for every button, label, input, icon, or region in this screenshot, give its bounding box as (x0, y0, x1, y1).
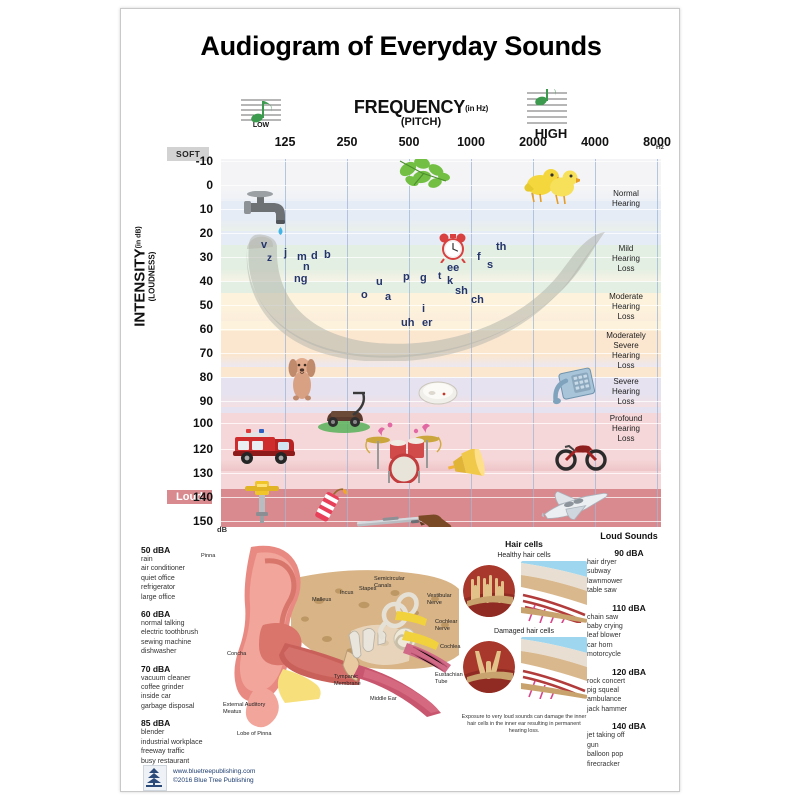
intensity-tick-0: 0 (179, 178, 213, 192)
faucet-icon (243, 191, 301, 239)
loud-sound-level: 90 dBA (587, 548, 671, 558)
phoneme-v: v (261, 239, 267, 251)
ear-label-semicircular: SemicircularCanals (374, 576, 405, 589)
phoneme-g: g (420, 272, 427, 284)
speech-banana-shape (239, 231, 609, 361)
hearing-level-line: Loss (583, 397, 669, 407)
hearing-level-line: Hearing (583, 387, 669, 397)
phoneme-sh: sh (455, 285, 468, 297)
ear-label-cochlear: CochlearNerve (435, 619, 457, 632)
hair-cells-panel: Hair cells Healthy hair cells (459, 539, 589, 754)
footer-website[interactable]: www.bluetreepublishing.com (173, 767, 255, 776)
loud-sound-item: baby crying (587, 622, 671, 631)
loud-sound-item: leaf blower (587, 631, 671, 640)
ear-label-vestibular: VestibularNerve (427, 593, 452, 606)
ear-label-line: Nerve (435, 626, 457, 633)
hearing-level-1: MildHearingLoss (583, 244, 669, 274)
hearing-level-line: Normal (583, 189, 669, 199)
ear-label-line: Nerve (427, 600, 452, 607)
phoneme-a: a (385, 291, 391, 303)
frequency-tick-500: 500 (386, 135, 432, 149)
intensity-tick-60: 60 (179, 322, 213, 336)
phoneme-i: i (422, 303, 425, 315)
ear-label-line: Tympanic (334, 674, 361, 681)
healthy-hair-cells-closeup (463, 565, 515, 617)
phoneme-k: k (447, 275, 453, 287)
ear-label-line: Middle Ear (370, 696, 397, 703)
frequency-tick-125: 125 (262, 135, 308, 149)
ear-label-malleus: Malleus (312, 597, 331, 604)
intensity-tick-50: 50 (179, 298, 213, 312)
frequency-title-unit: (in Hz) (465, 104, 488, 113)
loud-sound-item: firecracker (587, 760, 671, 769)
jackhammer-icon (243, 479, 281, 523)
phoneme-ng: ng (294, 273, 307, 285)
ear-anatomy-diagram: PinnaConchaExternal AuditoryMeatusLobe o… (199, 539, 469, 754)
hearing-level-line: Hearing (583, 254, 669, 264)
phoneme-p: p (403, 271, 410, 283)
intensity-tick-90: 90 (179, 394, 213, 408)
music-note-high-icon (525, 89, 569, 125)
loud-sound-item: hair dryer (587, 558, 671, 567)
hearing-level-2: ModerateHearingLoss (583, 292, 669, 322)
intensity-tick-20: 20 (179, 226, 213, 240)
frequency-low-label: LOW (239, 122, 283, 129)
hearing-level-line: Hearing (583, 424, 669, 434)
firecracker-icon (309, 483, 347, 527)
ear-label-cochlea: Cochlea (440, 644, 461, 651)
ear-label-line: Cochlear (435, 619, 457, 626)
loud-sound-item: subway (587, 567, 671, 576)
birds-icon (520, 165, 580, 207)
hearing-level-line: Loss (583, 361, 669, 371)
healthy-hair-cells-context (521, 561, 587, 623)
smoke-alarm-icon (418, 381, 458, 405)
healthy-hair-cells-label: Healthy hair cells (459, 552, 589, 559)
phoneme-t: t (438, 271, 441, 282)
music-note-low-icon (239, 97, 283, 125)
ear-label-external-auditory: External AuditoryMeatus (223, 702, 265, 715)
footer: www.bluetreepublishing.com ©2016 Blue Tr… (143, 765, 363, 791)
damaged-hair-cells-context (521, 637, 587, 699)
ear-label-incus: Incus (340, 590, 353, 597)
hearing-level-line: Loss (583, 264, 669, 274)
ear-label-line: Cochlea (440, 644, 461, 651)
intensity-tick-130: 130 (179, 466, 213, 480)
hearing-level-0: NormalHearing (583, 189, 669, 209)
drum-set-icon (360, 421, 446, 483)
frequency-tick-4000: 4000 (572, 135, 618, 149)
intensity-tick-150: 150 (179, 514, 213, 528)
phoneme-ee: ee (447, 262, 459, 274)
ear-label-line: Malleus (312, 597, 331, 604)
megaphone-icon (448, 449, 490, 479)
loud-sound-item: chain saw (587, 613, 671, 622)
ear-label-line: Canals (374, 583, 405, 590)
loud-sound-group-1: 110 dBAchain sawbaby cryingleaf blowerca… (587, 603, 671, 660)
hearing-level-line: Profound (583, 414, 669, 424)
loud-sound-item: pig squeal (587, 686, 671, 695)
hearing-level-5: ProfoundHearingLoss (583, 414, 669, 444)
ear-label-line: Membrane (334, 681, 361, 688)
loud-sound-level: 120 dBA (587, 667, 671, 677)
ear-label-line: Lobe of Pinna (237, 731, 272, 738)
loud-sounds-title: Loud Sounds (587, 531, 671, 541)
phoneme-o: o (361, 289, 368, 301)
intensity-title-text: INTENSITY (132, 248, 149, 326)
frequency-axis-subtitle: (PITCH) (311, 116, 531, 128)
ear-label-concha: Concha (227, 651, 246, 658)
footer-text: www.bluetreepublishing.com ©2016 Blue Tr… (173, 767, 255, 785)
loud-sound-item: balloon pop (587, 750, 671, 759)
loud-sound-item: ambulance (587, 695, 671, 704)
hearing-level-4: SevereHearingLoss (583, 377, 669, 407)
frequency-title-text: FREQUENCY (354, 97, 465, 117)
phoneme-b: b (324, 249, 331, 261)
phoneme-d: d (311, 250, 318, 262)
phoneme-f: f (477, 251, 481, 263)
hearing-level-line: Loss (583, 312, 669, 322)
intensity-tick-10: 10 (179, 202, 213, 216)
phoneme-ch: ch (471, 294, 484, 306)
loud-sound-item: jet taking off (587, 731, 671, 740)
intensity-tick-80: 80 (179, 370, 213, 384)
loud-sound-item: lawnmower (587, 577, 671, 586)
frequency-tick-250: 250 (324, 135, 370, 149)
intensity-tick-100: 100 (179, 416, 213, 430)
ear-label-tympanic: TympanicMembrane (334, 674, 361, 687)
leaves-icon (392, 159, 454, 197)
shotgun-icon (353, 511, 457, 527)
phoneme-j: j (284, 247, 287, 259)
hearing-level-line: Loss (583, 434, 669, 444)
loud-sound-level: 110 dBA (587, 603, 671, 613)
hearing-level-line: Severe (583, 377, 669, 387)
hearing-level-line: Moderate (583, 292, 669, 302)
phoneme-s: s (487, 259, 493, 271)
frequency-tick-1000: 1000 (448, 135, 494, 149)
hearing-level-line: Moderately (583, 331, 669, 341)
ear-label-pinna: Pinna (201, 553, 215, 560)
intensity-tick-70: 70 (179, 346, 213, 360)
ear-label-middle-ear: Middle Ear (370, 696, 397, 703)
phoneme-er: er (422, 317, 432, 329)
loud-sound-item: rock concert (587, 677, 671, 686)
frequency-tick-2000: 2000 (510, 135, 556, 149)
intensity-title-unit: (in dB) (136, 226, 143, 248)
intensity-axis-subtitle: (LOUDNESS) (148, 212, 157, 342)
frequency-tick-8000: 8000 (634, 135, 680, 149)
hair-cells-title: Hair cells (459, 539, 589, 549)
intensity-tick-40: 40 (179, 274, 213, 288)
loud-sound-item: car horn (587, 641, 671, 650)
phoneme-z: z (267, 253, 272, 264)
ear-label-line: Concha (227, 651, 246, 658)
page-title: Audiogram of Everyday Sounds (121, 31, 680, 62)
hearing-level-line: Hearing (583, 302, 669, 312)
intensity-tick-140: 140 (179, 490, 213, 504)
phoneme-uh: uh (401, 317, 414, 329)
ear-label-line: Vestibular (427, 593, 452, 600)
ear-label-line: Pinna (201, 553, 215, 560)
loud-sound-item: table saw (587, 586, 671, 595)
loud-sounds-list: Loud Sounds 90 dBAhair dryersubwaylawnmo… (587, 531, 671, 769)
damaged-hair-cells-closeup (463, 641, 515, 693)
fire-truck-icon (231, 425, 297, 467)
damaged-hair-cells-label: Damaged hair cells (459, 628, 589, 635)
poster-container: Audiogram of Everyday Sounds LOW HIGH FR… (120, 8, 680, 792)
hearing-level-line: Mild (583, 244, 669, 254)
hearing-level-line: Severe (583, 341, 669, 351)
ear-label-line: Incus (340, 590, 353, 597)
loud-sound-group-2: 120 dBArock concertpig squealambulanceja… (587, 667, 671, 715)
hearing-level-line: Hearing (583, 351, 669, 361)
hearing-level-line: Hearing (583, 199, 669, 209)
alarm-clock-icon (438, 231, 468, 263)
intensity-tick-120: 120 (179, 442, 213, 456)
phoneme-u: u (376, 276, 383, 288)
intensity-axis-title: INTENSITY(in dB) (LOUDNESS) (132, 212, 157, 342)
ear-label-line: Meatus (223, 709, 265, 716)
intensity-tick-30: 30 (179, 250, 213, 264)
loud-sound-item: jack hammer (587, 705, 671, 714)
loud-sound-item: motorcycle (587, 650, 671, 659)
phoneme-th: th (496, 241, 506, 253)
ear-label-lobe-of-pinna: Lobe of Pinna (237, 731, 272, 738)
airplane-icon (539, 485, 611, 523)
footer-copyright: ©2016 Blue Tree Publishing (173, 776, 255, 785)
loud-sound-item: gun (587, 741, 671, 750)
loud-sound-group-0: 90 dBAhair dryersubwaylawnmowertable saw (587, 548, 671, 596)
frequency-axis-title: FREQUENCY(in Hz) (311, 97, 531, 118)
loud-sounds-groups: 90 dBAhair dryersubwaylawnmowertable saw… (587, 548, 671, 769)
hearing-level-3: ModeratelySevereHearingLoss (583, 331, 669, 371)
blue-tree-logo-icon (143, 765, 167, 791)
dog-icon (287, 355, 317, 401)
hair-cells-caption: Exposure to very loud sounds can damage … (459, 714, 589, 735)
ear-label-line: Semicircular (374, 576, 405, 583)
ear-label-line: External Auditory (223, 702, 265, 709)
loud-sound-level: 140 dBA (587, 721, 671, 731)
loud-sound-group-3: 140 dBAjet taking offgunballoon popfirec… (587, 721, 671, 769)
phoneme-n: n (303, 261, 310, 273)
intensity-tick-neg10: -10 (179, 154, 213, 168)
